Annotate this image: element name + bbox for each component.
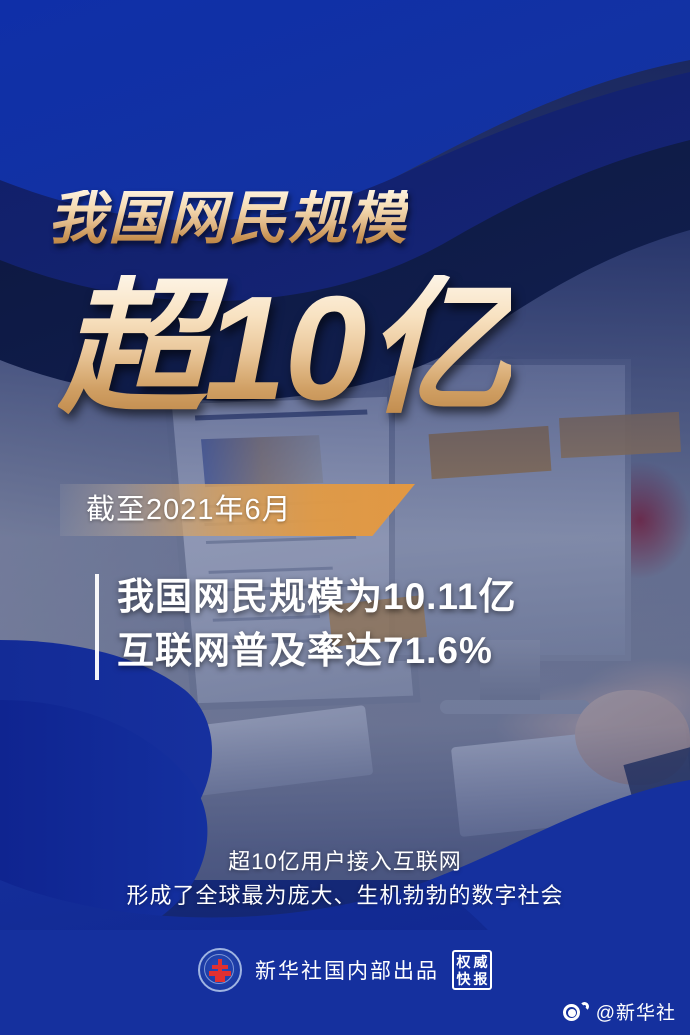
authority-badge: 权 威 快 报 [452,950,492,990]
badge-char: 快 [457,972,471,986]
date-banner: 截至2021年6月 [60,484,415,536]
page-title: 我国网民规模 [48,190,408,248]
footer-line: 超10亿用户接入互联网 [0,845,690,879]
statement-block: 我国网民规模为10.11亿 互联网普及率达71.6% [95,570,517,678]
footer-line: 形成了全球最为庞大、生机勃勃的数字社会 [0,879,690,913]
source-label: 新华社国内部出品 [255,955,439,985]
poster-root: 我国网民规模 超10亿 截至2021年6月 我国网民规模为10.11亿 互联网普… [0,0,690,1035]
statement-line: 互联网普及率达71.6% [117,624,517,678]
source-row: 新华社国内部出品 权 威 快 报 [0,948,690,992]
statement-line: 我国网民规模为10.11亿 [117,570,517,624]
poster-content: 我国网民规模 超10亿 截至2021年6月 我国网民规模为10.11亿 互联网普… [0,0,690,1035]
weibo-icon [563,1002,589,1022]
weibo-watermark: @新华社 [563,998,676,1025]
xinhua-logo-icon [198,948,242,992]
weibo-handle: @新华社 [596,998,676,1025]
footer-text-block: 超10亿用户接入互联网 形成了全球最为庞大、生机勃勃的数字社会 [0,845,690,913]
badge-char: 报 [474,972,488,986]
accent-bar [95,574,99,680]
big-number: 超10亿 [58,275,511,423]
badge-char: 威 [474,955,488,969]
date-label: 截至2021年6月 [86,484,292,536]
badge-char: 权 [457,955,471,969]
